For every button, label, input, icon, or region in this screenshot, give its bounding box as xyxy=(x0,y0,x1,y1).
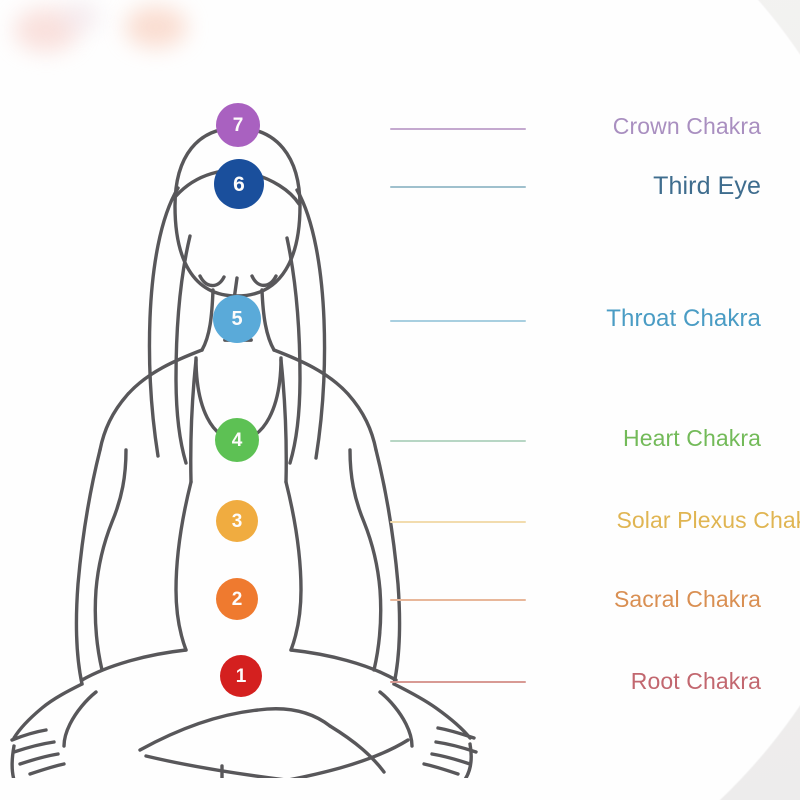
finger-r3 xyxy=(432,754,470,764)
chakra-label-sacral[interactable]: Sacral Chakra xyxy=(614,586,761,613)
finger-l3 xyxy=(20,754,58,764)
connector-line-throat xyxy=(390,320,526,322)
neck-right xyxy=(262,290,274,350)
connector-line-crown xyxy=(390,128,526,130)
chakra-label-heart[interactable]: Heart Chakra xyxy=(623,425,761,452)
chakra-dot-5[interactable]: 5 xyxy=(213,295,261,343)
hair-right xyxy=(297,190,325,458)
shin-cross-left xyxy=(140,709,330,750)
chakra-dot-2[interactable]: 2 xyxy=(216,578,258,620)
chakra-number-7: 7 xyxy=(233,116,244,135)
chakra-number-6: 6 xyxy=(233,174,245,195)
meditating-figure-illustration xyxy=(0,78,530,778)
strap-left xyxy=(191,360,196,482)
finger-r1 xyxy=(438,728,474,738)
chakra-number-3: 3 xyxy=(232,512,243,531)
chakra-label-third-eye[interactable]: Third Eye xyxy=(653,172,761,201)
hand-right-thumb xyxy=(380,692,412,746)
hand-right xyxy=(394,684,470,738)
chakra-dot-4[interactable]: 4 xyxy=(215,418,259,462)
hair-left xyxy=(149,188,178,456)
eye-left xyxy=(200,276,224,286)
connector-line-root xyxy=(390,681,526,683)
hand-left-thumb xyxy=(64,692,96,746)
chakra-label-throat[interactable]: Throat Chakra xyxy=(606,305,761,333)
decorative-blob-orange xyxy=(125,6,187,48)
strap-right xyxy=(281,360,286,482)
torso-left xyxy=(176,482,191,650)
hand-left xyxy=(14,684,82,738)
foot-left xyxy=(146,756,396,778)
thigh-right xyxy=(291,650,396,680)
finger-l4 xyxy=(30,764,64,774)
finger-r4 xyxy=(424,764,458,774)
decorative-blob-lavender xyxy=(60,2,100,32)
connector-line-solar-plexus xyxy=(390,521,526,523)
chakra-number-4: 4 xyxy=(232,431,243,450)
neck-left xyxy=(202,290,213,350)
torso-right xyxy=(286,482,301,650)
shin-cross-right xyxy=(330,726,384,772)
chakra-dot-1[interactable]: 1 xyxy=(220,655,262,697)
shin-lower xyxy=(222,740,408,778)
chakra-number-5: 5 xyxy=(231,309,242,329)
chakra-diagram-canvas: 7 6 5 4 3 2 1 Crown Chakra Third Eye Thr… xyxy=(0,0,800,800)
head-outline xyxy=(175,128,300,296)
hair-right-inner xyxy=(287,238,300,463)
chakra-dot-3[interactable]: 3 xyxy=(216,500,258,542)
connector-line-heart xyxy=(390,440,526,442)
chakra-label-crown[interactable]: Crown Chakra xyxy=(613,113,761,140)
chakra-number-1: 1 xyxy=(236,667,247,686)
arm-right-inner xyxy=(350,450,381,670)
chakra-label-solar-plexus[interactable]: Solar Plexus Chakra xyxy=(616,507,800,534)
chakra-label-root[interactable]: Root Chakra xyxy=(631,668,761,695)
chakra-dot-6[interactable]: 6 xyxy=(214,159,264,209)
connector-line-third-eye xyxy=(390,186,526,188)
chakra-dot-7[interactable]: 7 xyxy=(216,103,260,147)
arm-left-inner xyxy=(95,450,126,670)
chakra-number-2: 2 xyxy=(232,590,243,609)
finger-l2 xyxy=(14,742,54,752)
connector-line-sacral xyxy=(390,599,526,601)
